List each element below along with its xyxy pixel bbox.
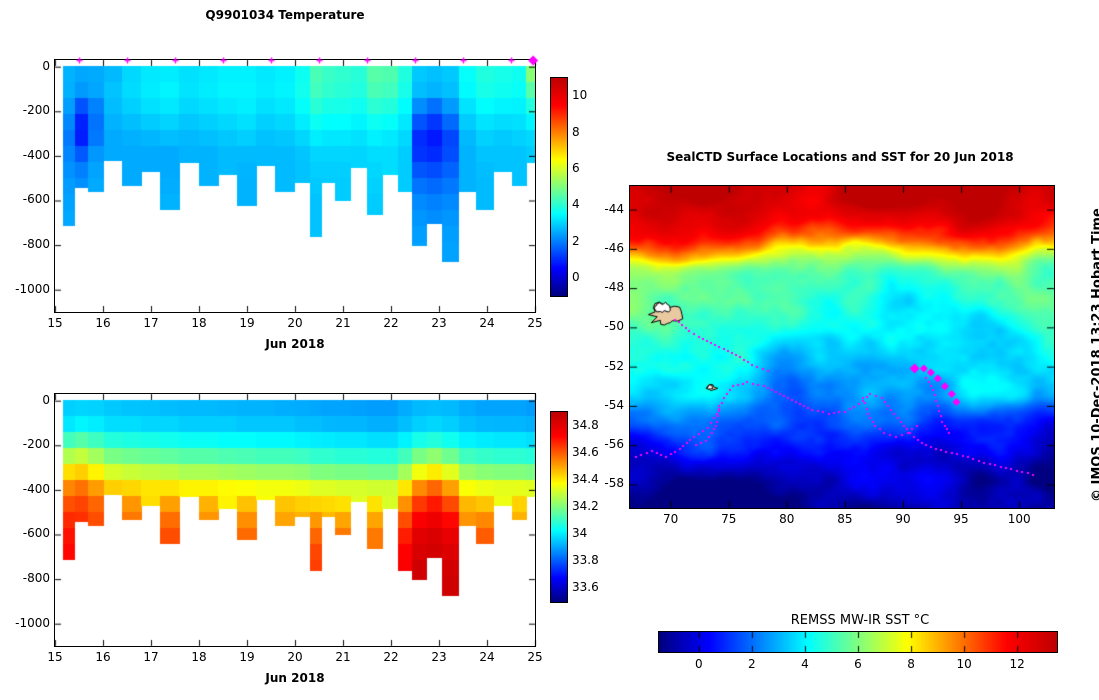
- temp-xtick-18: 18: [179, 316, 219, 330]
- map-xtick-85: 85: [825, 512, 865, 526]
- sst-cbar-tick-10: 10: [944, 657, 984, 671]
- map-ytick-neg54: -54: [578, 398, 624, 412]
- sal-xtick-21: 21: [323, 650, 363, 664]
- temperature-axes-frame: [54, 59, 536, 313]
- salinity-colorbar-frame: [550, 411, 568, 603]
- map-ytick-neg52: -52: [578, 359, 624, 373]
- temp-xtick-19: 19: [227, 316, 267, 330]
- map-ytick-neg56: -56: [578, 437, 624, 451]
- map-ytick-neg46: -46: [578, 241, 624, 255]
- sal-ytick-neg1000: -1000: [4, 616, 50, 630]
- sst-colorbar-frame: [658, 631, 1058, 653]
- sst-cbar-tick-12: 12: [997, 657, 1037, 671]
- sal-cbar-tick-34p2: 34.2: [572, 499, 599, 513]
- sal-xtick-16: 16: [83, 650, 123, 664]
- temp-xtick-24: 24: [467, 316, 507, 330]
- temp-cbar-tick-10: 10: [572, 88, 587, 102]
- map-axes-frame: [629, 185, 1055, 509]
- sal-cbar-tick-33p6: 33.6: [572, 580, 599, 594]
- sst-cbar-tick-2: 2: [732, 657, 772, 671]
- temp-ytick-neg600: -600: [4, 192, 50, 206]
- sal-ytick-neg400: -400: [4, 482, 50, 496]
- temp-ytick-neg800: -800: [4, 237, 50, 251]
- sal-xtick-23: 23: [419, 650, 459, 664]
- sal-ytick-neg200: -200: [4, 437, 50, 451]
- temp-cbar-tick-6: 6: [572, 161, 580, 175]
- temp-xtick-15: 15: [35, 316, 75, 330]
- temp-xtick-25: 25: [515, 316, 555, 330]
- map-xtick-70: 70: [651, 512, 691, 526]
- sal-xtick-24: 24: [467, 650, 507, 664]
- map-ytick-neg58: -58: [578, 476, 624, 490]
- temp-ytick-neg400: -400: [4, 148, 50, 162]
- sal-xtick-25: 25: [515, 650, 555, 664]
- map-xtick-95: 95: [941, 512, 981, 526]
- sst-colorbar-label: REMSS MW-IR SST °C: [660, 613, 1060, 628]
- temperature-xlabel: Jun 2018: [54, 337, 536, 351]
- map-xtick-90: 90: [883, 512, 923, 526]
- temperature-panel-title: Q9901034 Temperature: [40, 8, 530, 22]
- sal-xtick-20: 20: [275, 650, 315, 664]
- temp-xtick-20: 20: [275, 316, 315, 330]
- temp-xtick-17: 17: [131, 316, 171, 330]
- temp-xtick-16: 16: [83, 316, 123, 330]
- map-ytick-neg44: -44: [578, 202, 624, 216]
- sal-cbar-tick-34p8: 34.8: [572, 418, 599, 432]
- sst-cbar-tick-8: 8: [891, 657, 931, 671]
- map-xtick-100: 100: [999, 512, 1039, 526]
- sst-cbar-tick-6: 6: [838, 657, 878, 671]
- map-xtick-75: 75: [709, 512, 749, 526]
- map-ytick-neg50: -50: [578, 319, 624, 333]
- sal-xtick-18: 18: [179, 650, 219, 664]
- temp-xtick-21: 21: [323, 316, 363, 330]
- temp-ytick-0: 0: [4, 59, 50, 73]
- copyright-credit: © IMOS 10-Dec-2018 13:23 Hobart Time: [1090, 208, 1099, 502]
- map-panel-title: SealCTD Surface Locations and SST for 20…: [630, 150, 1050, 164]
- temperature-colorbar-frame: [550, 77, 568, 297]
- temp-cbar-tick-8: 8: [572, 125, 580, 139]
- map-ytick-neg48: -48: [578, 280, 624, 294]
- sal-ytick-neg800: -800: [4, 571, 50, 585]
- temp-ytick-neg1000: -1000: [4, 282, 50, 296]
- salinity-xlabel: Jun 2018: [54, 671, 536, 685]
- temp-xtick-23: 23: [419, 316, 459, 330]
- sal-xtick-15: 15: [35, 650, 75, 664]
- sal-ytick-0: 0: [4, 393, 50, 407]
- salinity-axes-frame: [54, 393, 536, 647]
- sal-cbar-tick-33p8: 33.8: [572, 553, 599, 567]
- sal-xtick-17: 17: [131, 650, 171, 664]
- map-xtick-80: 80: [767, 512, 807, 526]
- sst-cbar-tick-0: 0: [679, 657, 719, 671]
- sal-ytick-neg600: -600: [4, 526, 50, 540]
- sst-cbar-tick-4: 4: [785, 657, 825, 671]
- temp-xtick-22: 22: [371, 316, 411, 330]
- sal-xtick-22: 22: [371, 650, 411, 664]
- sal-xtick-19: 19: [227, 650, 267, 664]
- sal-cbar-tick-34: 34: [572, 526, 587, 540]
- temp-ytick-neg200: -200: [4, 103, 50, 117]
